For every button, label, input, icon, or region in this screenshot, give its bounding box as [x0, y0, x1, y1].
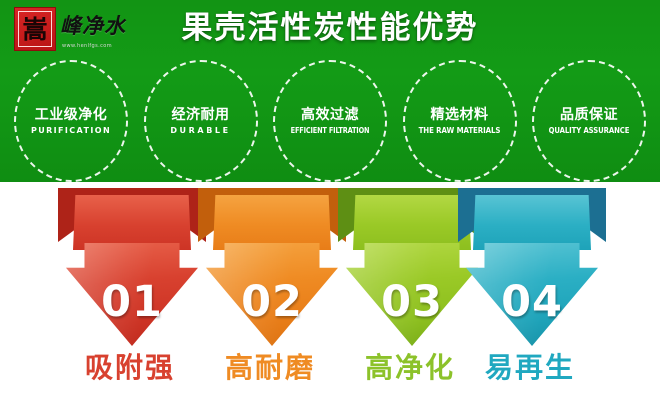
step-arrow-list: 01 02 03 04	[0, 188, 660, 348]
ribbon-front	[213, 195, 331, 250]
step-number: 01	[58, 281, 206, 324]
feature-label-en: PURIFICATION	[31, 127, 111, 136]
feature-label-cn: 经济耐用	[172, 107, 230, 124]
ribbon-front	[73, 195, 191, 250]
feature-oval-2: 经济耐用 DURABLE	[144, 60, 258, 182]
step-label-2: 高耐磨	[196, 352, 344, 384]
step-label-4: 易再生	[456, 352, 604, 384]
step-arrow-2: 02	[198, 188, 346, 346]
feature-label-cn: 高效过滤	[301, 107, 359, 124]
feature-oval-4: 精选材料 THE RAW MATERIALS	[403, 60, 517, 182]
step-label-list: 吸附强 高耐磨 高净化 易再生	[0, 352, 660, 396]
page-title: 果壳活性炭性能优势	[0, 11, 660, 46]
ribbon-front	[473, 195, 591, 250]
feature-label-en: DURABLE	[170, 127, 230, 136]
step-number: 04	[458, 281, 606, 324]
ribbon-front	[353, 195, 471, 250]
feature-oval-list: 工业级净化 PURIFICATION 经济耐用 DURABLE 高效过滤 EFF…	[0, 60, 660, 182]
feature-oval-3: 高效过滤 EFFICIENT FILTRATION	[273, 60, 387, 182]
poster-canvas: 嵩 峰净水 www.henlfgs.com 果壳活性炭性能优势 工业级净化 PU…	[0, 0, 660, 400]
feature-label-cn: 工业级净化	[35, 107, 108, 124]
feature-label-en: EFFICIENT FILTRATION	[291, 127, 370, 136]
green-header-band: 嵩 峰净水 www.henlfgs.com 果壳活性炭性能优势 工业级净化 PU…	[0, 0, 660, 182]
feature-label-en: THE RAW MATERIALS	[419, 127, 501, 136]
feature-oval-5: 品质保证 QUALITY ASSURANCE	[532, 60, 646, 182]
step-number: 02	[198, 281, 346, 324]
feature-label-en: QUALITY ASSURANCE	[549, 127, 630, 136]
feature-label-cn: 品质保证	[560, 107, 618, 124]
step-arrow-1: 01	[58, 188, 206, 346]
step-label-1: 吸附强	[56, 352, 204, 384]
feature-oval-1: 工业级净化 PURIFICATION	[14, 60, 128, 182]
feature-label-cn: 精选材料	[431, 107, 489, 124]
step-arrow-4: 04	[458, 188, 606, 346]
